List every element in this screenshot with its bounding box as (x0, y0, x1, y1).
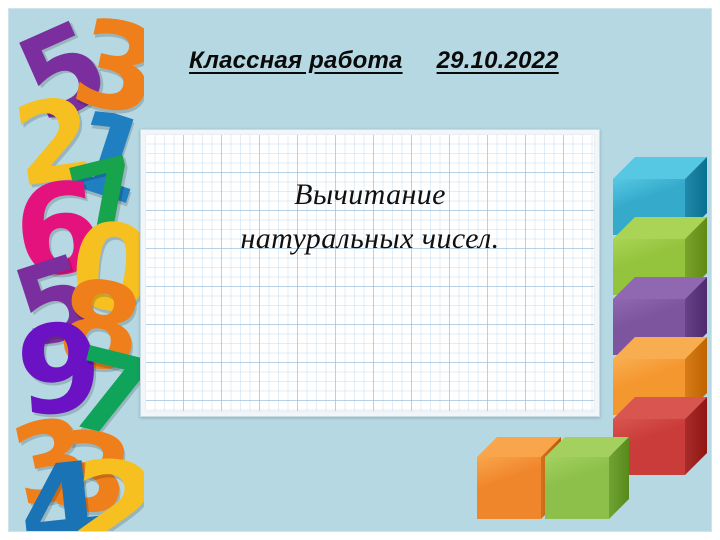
floor-blocks (9, 9, 711, 531)
green-floor-block-front-face (545, 457, 609, 519)
slide: 532176058973342 Классная работа29.10.202… (0, 0, 720, 540)
slide-canvas: 532176058973342 Классная работа29.10.202… (8, 8, 712, 532)
green-floor-block (545, 437, 629, 519)
orange-floor-block-front-face (477, 457, 541, 519)
